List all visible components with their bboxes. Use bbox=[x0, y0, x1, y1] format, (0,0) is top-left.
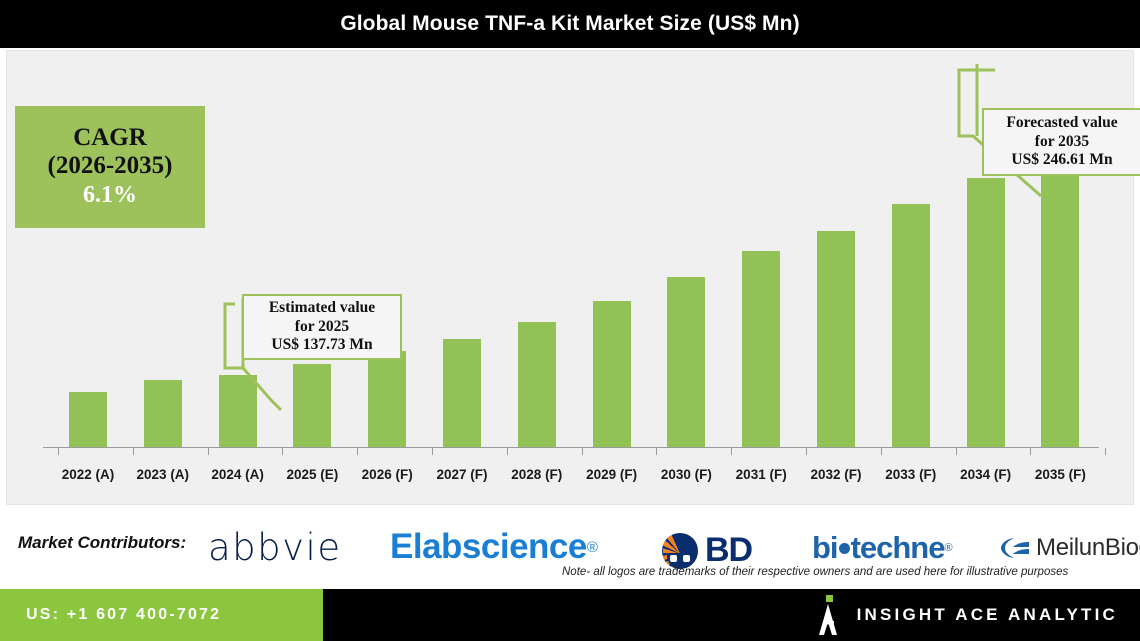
callout-estimated-line2: for 2025 bbox=[295, 318, 349, 337]
market-contributors-label: Market Contributors: bbox=[18, 533, 186, 553]
cagr-box: CAGR (2026-2035) 6.1% bbox=[15, 106, 205, 228]
insightace-logo-icon bbox=[815, 595, 841, 635]
x-tick-2030 bbox=[656, 448, 657, 455]
bar-2029 bbox=[593, 301, 631, 447]
x-tick-2022 bbox=[58, 448, 59, 455]
bd-sunburst-icon bbox=[662, 533, 698, 569]
meilun-wave-icon bbox=[1000, 536, 1030, 560]
meilunbio-logo-text: MeilunBio bbox=[1036, 534, 1139, 562]
x-tick-2033 bbox=[881, 448, 882, 455]
bar-2026 bbox=[368, 351, 406, 447]
footer-bar: US: +1 607 400-7072 INSIGHT ACE ANALYTIC bbox=[0, 589, 1140, 641]
x-tick-2028 bbox=[507, 448, 508, 455]
bar-2025 bbox=[293, 364, 331, 447]
footer-phone-text: US: +1 607 400-7072 bbox=[26, 606, 221, 624]
elabscience-registered-mark: ® bbox=[587, 539, 598, 556]
x-tick-2025 bbox=[282, 448, 283, 455]
x-tick-2035 bbox=[1030, 448, 1031, 455]
callout-estimated-line3: US$ 137.73 Mn bbox=[271, 336, 372, 355]
x-tick-2024 bbox=[208, 448, 209, 455]
x-tick-2023 bbox=[133, 448, 134, 455]
cagr-period: (2026-2035) bbox=[48, 152, 173, 180]
meilunbio-logo: MeilunBio® bbox=[1000, 534, 1140, 562]
bar-2024 bbox=[219, 375, 257, 447]
biotechne-logo: bitechne® bbox=[812, 530, 952, 566]
callout-forecasted-2035: Forecasted value for 2035 US$ 246.61 Mn bbox=[982, 108, 1140, 176]
callout-forecasted-line1: Forecasted value bbox=[1006, 114, 1117, 133]
biotechne-logo-text-b: techne bbox=[851, 530, 945, 566]
bd-logo: BD bbox=[662, 531, 752, 570]
abbvie-logo-text: abbvie bbox=[208, 526, 342, 569]
x-tick-2029 bbox=[582, 448, 583, 455]
biotechne-logo-text-a: bi bbox=[812, 530, 838, 566]
page-title: Global Mouse TNF-a Kit Market Size (US$ … bbox=[340, 12, 799, 36]
x-label-2035: 2035 (F) bbox=[1015, 467, 1105, 482]
elabscience-logo: Elabscience® bbox=[390, 527, 597, 567]
bar-2030 bbox=[667, 277, 705, 447]
callout-forecasted-line2: for 2035 bbox=[1035, 133, 1089, 152]
callout-estimated-line1: Estimated value bbox=[269, 299, 375, 318]
footer-phone-block[interactable]: US: +1 607 400-7072 bbox=[0, 589, 323, 641]
bar-2027 bbox=[443, 339, 481, 447]
bar-2035 bbox=[1041, 145, 1079, 447]
bd-logo-text: BD bbox=[705, 531, 752, 570]
callout-forecasted-line3: US$ 246.61 Mn bbox=[1011, 151, 1112, 170]
trademark-note: Note- all logos are trademarks of their … bbox=[562, 566, 1140, 578]
chart-panel: 2022 (A)2023 (A)2024 (A)2025 (E)2026 (F)… bbox=[6, 50, 1134, 505]
abbvie-logo: abbvie bbox=[208, 526, 342, 569]
x-tick-2031 bbox=[731, 448, 732, 455]
bar-2032 bbox=[817, 231, 855, 447]
bar-2028 bbox=[518, 322, 556, 447]
x-tick-2027 bbox=[432, 448, 433, 455]
bar-2022 bbox=[69, 392, 107, 447]
cagr-value: 6.1% bbox=[83, 181, 137, 210]
title-bar: Global Mouse TNF-a Kit Market Size (US$ … bbox=[0, 0, 1140, 48]
x-tick-2026 bbox=[357, 448, 358, 455]
x-tick-end bbox=[1105, 448, 1106, 455]
footer-brand-block: INSIGHT ACE ANALYTIC bbox=[815, 589, 1118, 641]
bar-2023 bbox=[144, 380, 182, 447]
bar-2033 bbox=[892, 204, 930, 447]
x-tick-2034 bbox=[956, 448, 957, 455]
elabscience-logo-text: Elabscience bbox=[390, 527, 587, 567]
callout-estimated-2025: Estimated value for 2025 US$ 137.73 Mn bbox=[242, 294, 402, 360]
x-tick-2032 bbox=[806, 448, 807, 455]
bar-2031 bbox=[742, 251, 780, 447]
biotechne-dot-icon bbox=[839, 543, 850, 554]
biotechne-registered-mark: ® bbox=[944, 542, 951, 554]
footer-brand-text: INSIGHT ACE ANALYTIC bbox=[857, 605, 1118, 625]
bar-2034 bbox=[967, 178, 1005, 447]
x-axis-line bbox=[43, 447, 1099, 448]
cagr-title: CAGR bbox=[73, 124, 147, 152]
